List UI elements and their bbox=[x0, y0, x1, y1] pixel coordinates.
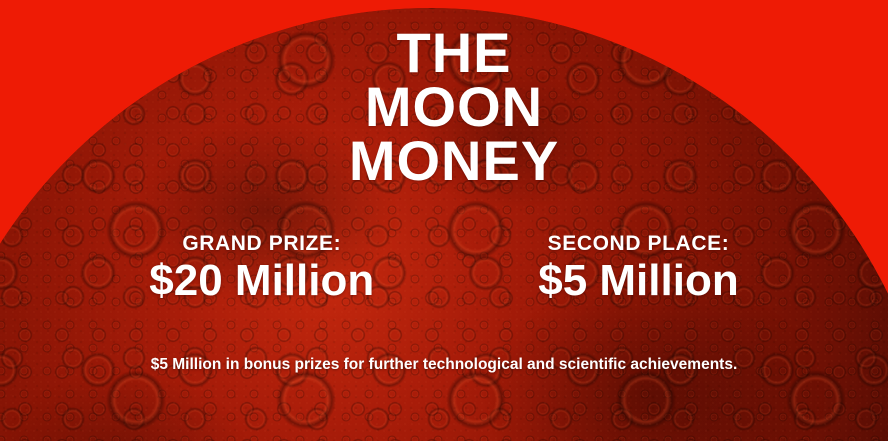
prize-second-label: SECOND PLACE: bbox=[538, 232, 738, 256]
prize-grand-amount: $20 Million bbox=[149, 256, 374, 306]
title-line-moon: MOON bbox=[10, 80, 888, 134]
title-line-money: MONEY bbox=[10, 134, 888, 188]
title-line-the: THE bbox=[10, 26, 888, 80]
promo-banner: THE MOON MONEY GRAND PRIZE: $20 Million … bbox=[0, 0, 888, 441]
bonus-prize-caption: $5 Million in bonus prizes for further t… bbox=[144, 354, 744, 375]
prize-list: GRAND PRIZE: $20 Million SECOND PLACE: $… bbox=[0, 232, 888, 306]
prize-grand-label: GRAND PRIZE: bbox=[149, 232, 374, 256]
banner-title: THE MOON MONEY bbox=[0, 26, 888, 188]
prize-second-amount: $5 Million bbox=[538, 256, 738, 306]
prize-second: SECOND PLACE: $5 Million bbox=[538, 232, 738, 306]
prize-grand: GRAND PRIZE: $20 Million bbox=[149, 232, 374, 306]
